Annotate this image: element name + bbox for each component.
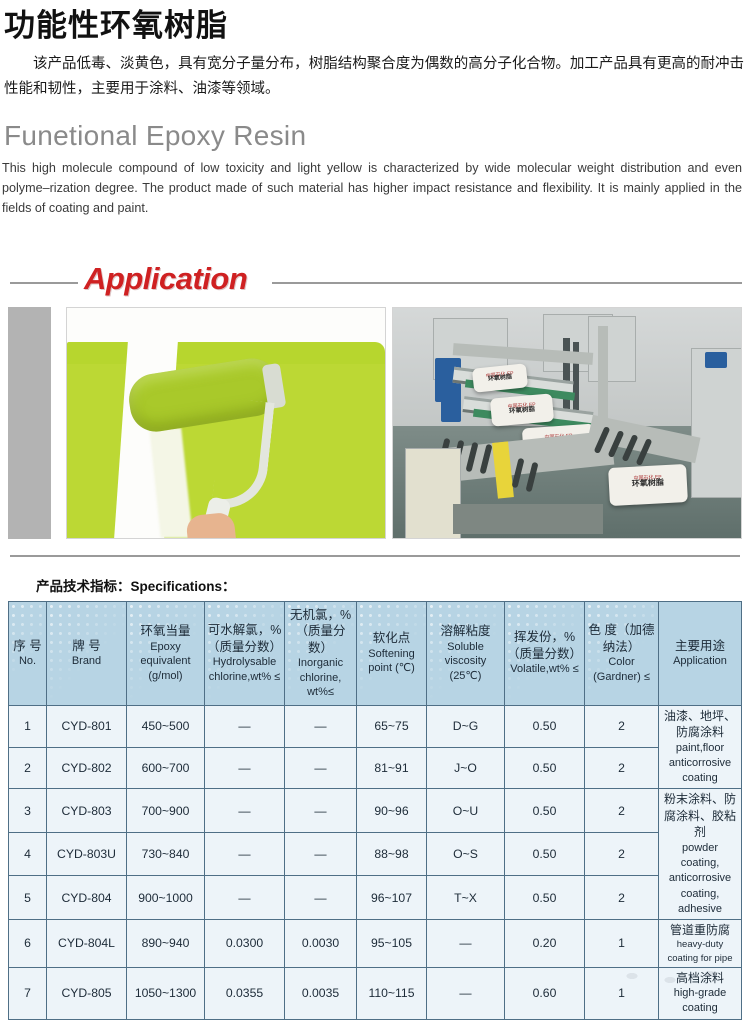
cell-no: 4 bbox=[9, 832, 47, 876]
cell-brand: CYD-803U bbox=[47, 832, 127, 876]
col-header-hydrolysable: 可水解氯，%（质量分数） Hydrolysable chlorine,wt% ≤ bbox=[205, 601, 285, 705]
col-header-softening-cn: 软化点 bbox=[359, 630, 424, 647]
cell-no: 3 bbox=[9, 789, 47, 833]
col-header-no-en: No. bbox=[11, 654, 44, 669]
cell-softening: 110~115 bbox=[357, 967, 427, 1019]
paint-roller-photo bbox=[66, 307, 386, 539]
grey-accent-bar bbox=[8, 307, 51, 539]
cell-viscosity: D~G bbox=[427, 705, 505, 747]
right-column bbox=[691, 348, 742, 498]
cell-brand: CYD-804L bbox=[47, 919, 127, 967]
cell-application: 高档涂料 high-grade coating bbox=[659, 967, 742, 1019]
table-row: 5 CYD-804 900~1000 — — 96~107 T~X 0.50 2 bbox=[9, 876, 742, 920]
cell-color: 1 bbox=[585, 967, 659, 1019]
photo-row: 中国石化 EP 环氧树脂 中国石化 EP 环氧树脂 中国石化 EP 环氧树脂 中… bbox=[0, 303, 750, 543]
cell-hydrolysable: — bbox=[205, 789, 285, 833]
cell-hydrolysable: — bbox=[205, 705, 285, 747]
cell-inorganic: — bbox=[285, 876, 357, 920]
cell-viscosity: T~X bbox=[427, 876, 505, 920]
factory-scene: 中国石化 EP 环氧树脂 中国石化 EP 环氧树脂 中国石化 EP 环氧树脂 中… bbox=[393, 308, 741, 538]
cell-color: 2 bbox=[585, 705, 659, 747]
cell-color: 2 bbox=[585, 876, 659, 920]
col-header-epoxy: 环氧当量 Epoxy equivalent (g/mol) bbox=[127, 601, 205, 705]
col-header-color-en: Color (Gardner) ≤ bbox=[587, 655, 656, 684]
cell-inorganic: — bbox=[285, 789, 357, 833]
control-cabinet bbox=[588, 316, 636, 382]
banner-rule-left bbox=[10, 282, 78, 284]
col-header-application-cn: 主要用途 bbox=[661, 638, 739, 655]
cell-color: 2 bbox=[585, 747, 659, 789]
cell-epoxy: 890~940 bbox=[127, 919, 205, 967]
cell-viscosity: J~O bbox=[427, 747, 505, 789]
application-en: paint,floor anticorrosive coating bbox=[662, 741, 738, 787]
blue-motor-2 bbox=[441, 392, 461, 422]
cell-softening: 65~75 bbox=[357, 705, 427, 747]
resin-bag-4: 中国石化 EP 环氧树脂 bbox=[608, 464, 688, 506]
cell-hydrolysable: 0.0300 bbox=[205, 919, 285, 967]
table-row: 6 CYD-804L 890~940 0.0300 0.0030 95~105 … bbox=[9, 919, 742, 967]
cell-viscosity: — bbox=[427, 919, 505, 967]
table-row: 2 CYD-802 600~700 — — 81~91 J~O 0.50 2 bbox=[9, 747, 742, 789]
table-header-row: 序 号 No. 牌 号 Brand 环氧当量 Epoxy equivalen bbox=[9, 601, 742, 705]
bag-label: 环氧树脂 bbox=[487, 371, 512, 382]
col-header-volatile-en: Volatile,wt% ≤ bbox=[507, 662, 582, 677]
resin-bag-2: 中国石化 EP 环氧树脂 bbox=[490, 393, 554, 426]
page-title: 功能性环氧树脂 bbox=[0, 0, 750, 44]
cell-epoxy: 450~500 bbox=[127, 705, 205, 747]
cell-volatile: 0.20 bbox=[505, 919, 585, 967]
bag-label: 环氧树脂 bbox=[509, 402, 536, 414]
factory-conveyor-photo: 中国石化 EP 环氧树脂 中国石化 EP 环氧树脂 中国石化 EP 环氧树脂 中… bbox=[392, 307, 742, 539]
cell-inorganic: 0.0030 bbox=[285, 919, 357, 967]
col-header-hydrolysable-en: Hydrolysable chlorine,wt% ≤ bbox=[207, 655, 282, 684]
col-header-brand: 牌 号 Brand bbox=[47, 601, 127, 705]
cell-volatile: 0.50 bbox=[505, 747, 585, 789]
application-cn: 油漆、地坪、防腐涂料 bbox=[662, 708, 738, 741]
cell-no: 6 bbox=[9, 919, 47, 967]
application-heading: Application bbox=[84, 261, 247, 297]
cell-viscosity: — bbox=[427, 967, 505, 1019]
cell-softening: 88~98 bbox=[357, 832, 427, 876]
cell-inorganic: — bbox=[285, 747, 357, 789]
col-header-application: 主要用途 Application bbox=[659, 601, 742, 705]
cell-volatile: 0.50 bbox=[505, 876, 585, 920]
application-en: high-grade coating bbox=[662, 986, 738, 1016]
cell-hydrolysable: — bbox=[205, 832, 285, 876]
table-body: 1 CYD-801 450~500 — — 65~75 D~G 0.50 2 油… bbox=[9, 705, 742, 1019]
cell-epoxy: 730~840 bbox=[127, 832, 205, 876]
table-row: 1 CYD-801 450~500 — — 65~75 D~G 0.50 2 油… bbox=[9, 705, 742, 747]
col-header-viscosity-cn: 溶解粘度 bbox=[429, 623, 502, 640]
cell-softening: 90~96 bbox=[357, 789, 427, 833]
col-header-viscosity: 溶解粘度 Soluble viscosity (25℃) bbox=[427, 601, 505, 705]
paint-scene bbox=[67, 308, 385, 538]
application-cn: 高档涂料 bbox=[662, 970, 738, 987]
english-description: This high molecule compound of low toxic… bbox=[0, 152, 750, 219]
cell-softening: 95~105 bbox=[357, 919, 427, 967]
cell-viscosity: O~U bbox=[427, 789, 505, 833]
col-header-color: 色 度（加德纳法） Color (Gardner) ≤ bbox=[585, 601, 659, 705]
cell-color: 1 bbox=[585, 919, 659, 967]
cell-inorganic: — bbox=[285, 705, 357, 747]
col-header-volatile: 挥发份，%（质量分数） Volatile,wt% ≤ bbox=[505, 601, 585, 705]
col-header-no: 序 号 No. bbox=[9, 601, 47, 705]
spec-table-label: 产品技术指标：Specifications： bbox=[0, 557, 750, 601]
col-header-application-en: Application bbox=[661, 654, 739, 669]
cell-brand: CYD-802 bbox=[47, 747, 127, 789]
cell-brand: CYD-803 bbox=[47, 789, 127, 833]
cell-no: 7 bbox=[9, 967, 47, 1019]
cell-epoxy: 900~1000 bbox=[127, 876, 205, 920]
col-header-softening-en: Softening point (℃) bbox=[359, 647, 424, 676]
cell-brand: CYD-804 bbox=[47, 876, 127, 920]
cell-epoxy: 1050~1300 bbox=[127, 967, 205, 1019]
col-header-brand-en: Brand bbox=[49, 654, 124, 669]
cell-brand: CYD-801 bbox=[47, 705, 127, 747]
col-header-inorganic-en: Inorganic chlorine, wt%≤ bbox=[287, 656, 354, 700]
col-header-inorganic: 无机氯，%（质量分数） Inorganic chlorine, wt%≤ bbox=[285, 601, 357, 705]
product-datasheet-page: 功能性环氧树脂 该产品低毒、淡黄色，具有宽分子量分布，树脂结构聚合度为偶数的高分… bbox=[0, 0, 750, 1024]
application-en: powder coating, anticorrosive coating, a… bbox=[662, 841, 738, 917]
col-header-softening: 软化点 Softening point (℃) bbox=[357, 601, 427, 705]
cell-hydrolysable: — bbox=[205, 876, 285, 920]
col-header-epoxy-cn: 环氧当量 bbox=[129, 623, 202, 640]
cell-volatile: 0.50 bbox=[505, 705, 585, 747]
application-banner: Application bbox=[0, 263, 750, 299]
english-title: Funetional Epoxy Resin bbox=[0, 102, 750, 152]
col-header-viscosity-en: Soluble viscosity (25℃) bbox=[429, 640, 502, 684]
col-header-inorganic-cn: 无机氯，%（质量分数） bbox=[287, 607, 354, 657]
cell-viscosity: O~S bbox=[427, 832, 505, 876]
cell-no: 1 bbox=[9, 705, 47, 747]
specifications-table: 序 号 No. 牌 号 Brand 环氧当量 Epoxy equivalen bbox=[8, 601, 742, 1020]
cell-hydrolysable: 0.0355 bbox=[205, 967, 285, 1019]
cell-no: 5 bbox=[9, 876, 47, 920]
col-header-volatile-cn: 挥发份，%（质量分数） bbox=[507, 629, 582, 662]
col-header-epoxy-en: Epoxy equivalent (g/mol) bbox=[129, 640, 202, 684]
col-header-color-cn: 色 度（加德纳法） bbox=[587, 622, 656, 655]
cell-no: 2 bbox=[9, 747, 47, 789]
chinese-description: 该产品低毒、淡黄色，具有宽分子量分布，树脂结构聚合度为偶数的高分子化合物。加工产… bbox=[0, 44, 750, 102]
cell-epoxy: 600~700 bbox=[127, 747, 205, 789]
application-cn: 管道重防腐 bbox=[662, 922, 738, 939]
col-header-hydrolysable-cn: 可水解氯，%（质量分数） bbox=[207, 622, 282, 655]
table-row: 7 CYD-805 1050~1300 0.0355 0.0035 110~11… bbox=[9, 967, 742, 1019]
col-header-no-cn: 序 号 bbox=[11, 638, 44, 655]
cell-brand: CYD-805 bbox=[47, 967, 127, 1019]
application-cn: 粉末涂料、防腐涂料、胶粘剂 bbox=[662, 791, 738, 841]
cell-volatile: 0.50 bbox=[505, 832, 585, 876]
blue-label bbox=[705, 352, 727, 368]
bag-label: 环氧树脂 bbox=[632, 477, 665, 490]
cell-application: 管道重防腐 heavy-duty coating for pipe bbox=[659, 919, 742, 967]
cell-softening: 81~91 bbox=[357, 747, 427, 789]
banner-rule-right bbox=[272, 282, 742, 284]
cell-volatile: 0.50 bbox=[505, 789, 585, 833]
cell-inorganic: 0.0035 bbox=[285, 967, 357, 1019]
cell-volatile: 0.60 bbox=[505, 967, 585, 1019]
cell-inorganic: — bbox=[285, 832, 357, 876]
col-header-brand-cn: 牌 号 bbox=[49, 638, 124, 655]
table-row: 3 CYD-803 700~900 — — 90~96 O~U 0.50 2 粉… bbox=[9, 789, 742, 833]
cell-hydrolysable: — bbox=[205, 747, 285, 789]
cell-softening: 96~107 bbox=[357, 876, 427, 920]
cell-application: 油漆、地坪、防腐涂料 paint,floor anticorrosive coa… bbox=[659, 705, 742, 789]
cell-color: 2 bbox=[585, 832, 659, 876]
table-row: 4 CYD-803U 730~840 — — 88~98 O~S 0.50 2 bbox=[9, 832, 742, 876]
cell-epoxy: 700~900 bbox=[127, 789, 205, 833]
cell-color: 2 bbox=[585, 789, 659, 833]
cell-application: 粉末涂料、防腐涂料、胶粘剂 powder coating, anticorros… bbox=[659, 789, 742, 920]
notes-block: 注：CYD-801、CYD-802、CYD-803、CYD-803U、CYD-8… bbox=[0, 1020, 750, 1024]
machine-base bbox=[453, 504, 603, 534]
table-head: 序 号 No. 牌 号 Brand 环氧当量 Epoxy equivalen bbox=[9, 601, 742, 705]
application-en: heavy-duty coating for pipe bbox=[662, 938, 738, 964]
